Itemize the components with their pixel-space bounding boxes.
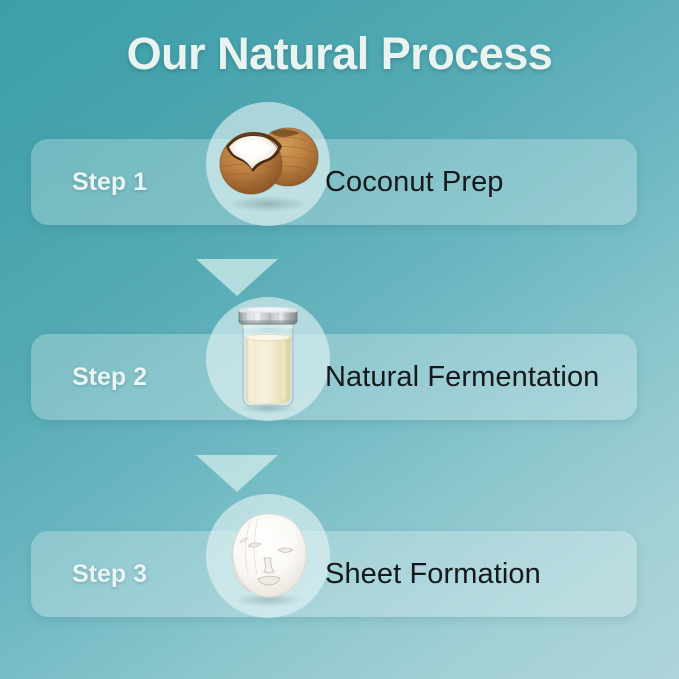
page-title: Our Natural Process — [0, 30, 679, 77]
process-step-1: Step 1 — [31, 139, 637, 225]
down-arrow-icon — [196, 259, 278, 296]
sheet-mask-icon — [206, 494, 330, 618]
process-infographic: Our Natural Process Step 1 — [0, 0, 679, 679]
step-icon-well — [206, 494, 330, 618]
process-step-3: Step 3 — [31, 531, 637, 617]
step-number-label: Step 3 — [72, 531, 147, 617]
step-number-label: Step 1 — [72, 139, 147, 225]
step-number-label: Step 2 — [72, 334, 147, 420]
process-step-2: Step 2 — [31, 334, 637, 420]
step-icon-well — [206, 102, 330, 226]
step-title-label: Sheet Formation — [325, 531, 541, 617]
step-title-label: Coconut Prep — [325, 139, 504, 225]
down-arrow-icon — [196, 455, 278, 492]
arrow-step2-to-step3 — [196, 455, 278, 492]
fermentation-jar-icon — [206, 297, 330, 421]
arrow-step1-to-step2 — [196, 259, 278, 296]
coconut-icon — [206, 102, 330, 226]
step-icon-well — [206, 297, 330, 421]
step-title-label: Natural Fermentation — [325, 334, 599, 420]
